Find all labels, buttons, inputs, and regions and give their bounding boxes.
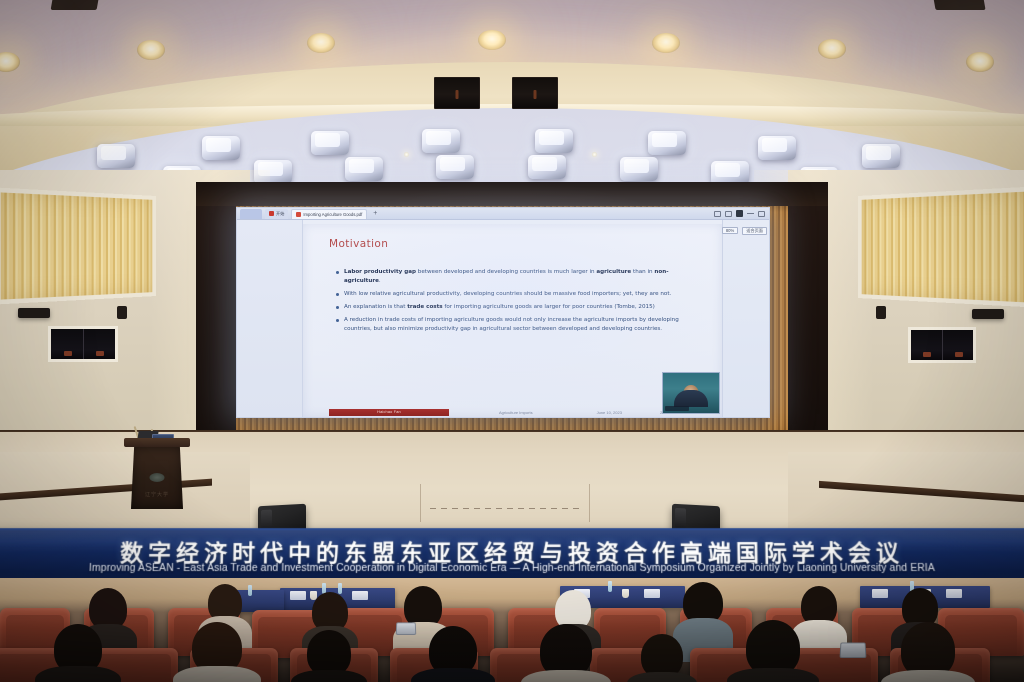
name-card (872, 589, 888, 598)
projector-box-left (434, 77, 480, 109)
audience-member (34, 624, 122, 682)
projection-screen: 开始 Importing Agriculture Goods.pdf + 80%… (236, 207, 770, 418)
ceiling-panel-light (528, 155, 566, 179)
slide-footer-author: Haichao Fan (329, 409, 449, 416)
ceiling-downlight (137, 40, 165, 60)
ceiling-downlight (818, 39, 846, 59)
slide-bullet: An explanation is that trade costs for i… (336, 303, 700, 312)
tea-cup (622, 589, 629, 598)
video-call-strip (307, 417, 718, 418)
pdf-page: Motivation Labor productivity gap betwee… (303, 224, 722, 417)
ceiling-vent-left (51, 0, 100, 10)
bullet-dot-icon (336, 271, 339, 274)
window-controls[interactable] (714, 210, 769, 217)
tab-document[interactable]: Importing Agriculture Goods.pdf (291, 209, 367, 219)
person-body (627, 672, 697, 682)
bullet-dot-icon (336, 306, 339, 309)
ceiling-panel-light (311, 131, 349, 155)
slide-bullet-list: Labor productivity gap between developed… (336, 268, 700, 338)
audience-member (626, 634, 698, 682)
audience-member (290, 630, 368, 682)
audience-member (880, 622, 976, 682)
water-bottle (608, 581, 612, 592)
slide-bullet: A reduction in trade costs of importing … (336, 316, 700, 333)
slide-title: Motivation (329, 238, 388, 250)
grid-view-icon[interactable] (725, 211, 732, 217)
podium-front-text: 辽宁大学 (145, 491, 169, 498)
ceiling-panel-light (422, 129, 460, 153)
audience-area (0, 578, 1024, 682)
ceiling-downlight (478, 30, 506, 50)
projection-booth-window-right (908, 327, 976, 363)
ceiling-panel-light (862, 144, 900, 168)
ceiling-panel-light (648, 131, 686, 155)
bullet-dot-icon (336, 293, 339, 296)
slide-footer-center: Agriculture Imports (499, 410, 533, 415)
booth-pane (84, 329, 116, 359)
stage-proscenium-header (196, 182, 828, 206)
video-call-thumbnail[interactable] (662, 372, 720, 414)
projector-lens-icon (534, 90, 537, 99)
stage-floor-seam (420, 484, 590, 522)
speaker-podium: 辽宁大学 (128, 438, 186, 510)
person-body (411, 668, 495, 682)
person-body (35, 666, 121, 682)
person-body (881, 670, 975, 682)
bullet-text: With low relative agricultural productiv… (344, 290, 671, 299)
wall-spotlight-right (876, 306, 886, 319)
booth-pane (911, 330, 943, 360)
stage-side-return-right (788, 182, 828, 432)
maximize-icon[interactable] (758, 211, 765, 217)
bullet-dot-icon (336, 319, 339, 322)
university-emblem-icon (150, 473, 165, 482)
slide-footer: Haichao Fan Agriculture Imports June 10,… (303, 408, 722, 416)
wall-speaker-left (18, 308, 50, 318)
app-tab-bar[interactable]: 开始 Importing Agriculture Goods.pdf + (237, 208, 769, 220)
tab-document-label: Importing Agriculture Goods.pdf (303, 212, 362, 217)
minimize-icon[interactable] (747, 213, 754, 214)
wall-speaker-right (972, 309, 1004, 319)
new-tab-button[interactable]: + (370, 210, 380, 217)
podium-body: 辽宁大学 (131, 447, 183, 509)
auditorium-scene: 开始 Importing Agriculture Goods.pdf + 80%… (0, 0, 1024, 682)
ceiling-panel-light (97, 144, 135, 168)
participant-body (674, 390, 708, 407)
ceiling-panel-light (620, 157, 658, 181)
participant-nameplate (665, 406, 689, 411)
banner-subtitle-english: Improving ASEAN - East Asia Trade and In… (0, 563, 1024, 574)
layout-view-icon[interactable] (714, 211, 721, 217)
person-body (521, 670, 611, 682)
person-body (727, 668, 819, 682)
person-body (291, 670, 367, 682)
ceiling-spot-dot (592, 152, 597, 157)
podium-top-surface (124, 438, 190, 447)
ceiling-vent-right (932, 0, 985, 10)
ceiling-panel-light (436, 155, 474, 179)
ceiling-panel-light (345, 157, 383, 181)
name-card (644, 589, 660, 598)
stage-side-return-left (196, 182, 236, 432)
account-icon[interactable] (736, 210, 743, 217)
fit-page-button[interactable]: 适合页面 (742, 227, 767, 235)
audience-laptop (840, 642, 867, 658)
wall-spotlight-left (117, 306, 127, 319)
ceiling-panel-light (254, 160, 292, 184)
reader-left-rail[interactable] (237, 220, 303, 417)
audience-member (410, 626, 496, 682)
acoustic-slat-panel-left (0, 188, 156, 305)
projector-box-right (512, 77, 558, 109)
stage-floor-crack (430, 508, 580, 509)
ceiling-panel-light (758, 136, 796, 160)
ceiling-panel-light (202, 136, 240, 160)
ceiling-downlight (307, 33, 335, 53)
slide-footer-date: June 10, 2023 (597, 410, 622, 415)
projector-lens-icon (456, 90, 459, 99)
bullet-text: A reduction in trade costs of importing … (344, 316, 700, 333)
zoom-level-label[interactable]: 80% (722, 227, 738, 234)
person-body (173, 666, 261, 682)
booth-pane (943, 330, 974, 360)
ceiling-spot-dot (404, 152, 409, 157)
pdf-file-icon (296, 212, 301, 217)
audience-member (726, 620, 820, 682)
tab-start[interactable]: 开始 (265, 209, 288, 219)
tab-start-label: 开始 (276, 211, 284, 217)
booth-pane (51, 329, 84, 359)
bullet-text: Labor productivity gap between developed… (344, 268, 700, 285)
ceiling-panel-light (535, 129, 573, 153)
acoustic-slat-panel-right (858, 187, 1024, 308)
slide-bullet: With low relative agricultural productiv… (336, 290, 700, 299)
ceiling-downlight (652, 33, 680, 53)
bullet-text: An explanation is that trade costs for i… (344, 303, 655, 312)
projection-booth-window-left (48, 326, 118, 362)
slide-bullet: Labor productivity gap between developed… (336, 268, 700, 285)
audience-member (172, 622, 262, 682)
pdf-file-icon (269, 211, 274, 216)
audience-member (520, 624, 612, 682)
video-feed (663, 373, 719, 413)
reader-right-rail[interactable] (722, 220, 769, 417)
tab-home[interactable] (240, 209, 262, 219)
ceiling-downlight (966, 52, 994, 72)
